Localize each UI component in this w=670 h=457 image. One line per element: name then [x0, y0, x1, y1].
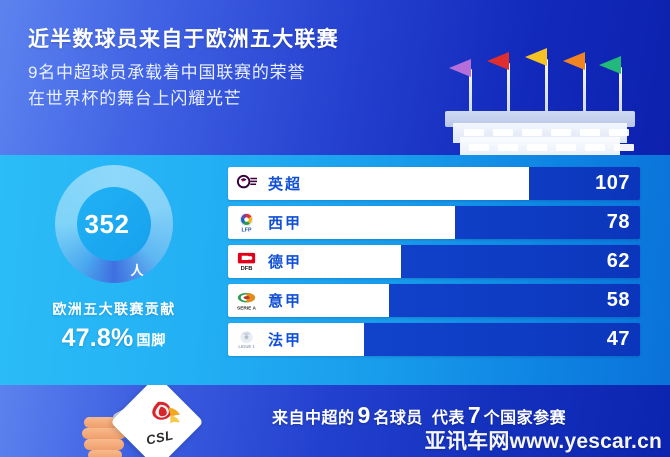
bar-row: LIGUE 1 法甲 47 [228, 323, 640, 356]
bundesliga-logo-icon: DFB [234, 249, 259, 274]
svg-text:LFP: LFP [242, 228, 252, 234]
ligue-1-logo-icon: LIGUE 1 [234, 327, 259, 352]
bar-value: 107 [595, 167, 630, 200]
footer-band: CSL 来自中超的 9 名球员 代表 7 个国家参赛 亚讯车网www.yesca… [0, 385, 670, 457]
svg-text:SERIE A: SERIE A [237, 306, 256, 312]
flag-orange-icon [563, 52, 585, 70]
bar-label: 德甲 [268, 251, 302, 272]
flag-green-icon [599, 56, 621, 74]
footer-prefix: 来自中超的 [272, 404, 355, 428]
donut-value: 352 [85, 209, 130, 240]
donut-percent-label: 国脚 [136, 330, 166, 353]
bar-label: 法甲 [268, 329, 302, 350]
bar-fill-premier-league: 英超 [228, 167, 529, 200]
donut-caption-text: 欧洲五大联赛贡献 [28, 299, 200, 319]
bar-row: DFB 德甲 62 [228, 245, 640, 278]
footer-players-count: 9 [358, 402, 371, 429]
donut-percent-row: 47.8% 国脚 [28, 324, 200, 353]
donut-caption-block: 欧洲五大联赛贡献 47.8% 国脚 [28, 299, 200, 353]
bar-fill-bundesliga: DFB 德甲 [228, 245, 401, 278]
donut-unit: 人 [130, 260, 143, 283]
bar-row: 英超 107 [228, 167, 640, 200]
header-subtitle-line2: 在世界杯的舞台上闪耀光芒 [28, 86, 339, 112]
header-text-block: 近半数球员来自于欧洲五大联赛 9名中超球员承载着中国联赛的荣誉 在世界杯的舞台上… [28, 27, 339, 112]
la-liga-logo-icon: LFP [234, 210, 259, 235]
header-subtitle-line1: 9名中超球员承载着中国联赛的荣誉 [28, 60, 339, 86]
bar-row: SERIE A 意甲 58 [228, 284, 640, 317]
league-bar-chart: 英超 107 LF [228, 167, 640, 362]
premier-league-logo-icon [234, 171, 259, 196]
stadium-tier-bottom [460, 137, 620, 155]
bar-value: 62 [607, 245, 630, 278]
stadium-illustration-icon [433, 52, 648, 155]
bar-label: 意甲 [268, 290, 302, 311]
flag-red-icon [487, 52, 509, 70]
donut-percent-value: 47.8% [62, 324, 134, 353]
donut-center-label: 352 人 [55, 165, 173, 283]
bar-label: 英超 [268, 173, 302, 194]
infographic-page: 近半数球员来自于欧洲五大联赛 9名中超球员承载着中国联赛的荣誉 在世界杯的舞台上… [0, 0, 670, 457]
csl-flame-icon: CSL [130, 393, 190, 451]
svg-text:LIGUE 1: LIGUE 1 [238, 344, 255, 349]
footer-middle: 名球员 [373, 404, 423, 428]
svg-text:DFB: DFB [241, 266, 253, 272]
page-title: 近半数球员来自于欧洲五大联赛 [28, 27, 339, 53]
csl-logo-illustration: CSL [82, 385, 222, 457]
bar-value: 78 [607, 206, 630, 239]
bar-value: 47 [607, 323, 630, 356]
bar-row: LFP 西甲 78 [228, 206, 640, 239]
flag-purple-icon [449, 59, 471, 77]
watermark-text: 亚讯车网www.yescar.cn [425, 425, 662, 455]
flag-yellow-icon [525, 48, 547, 66]
bar-fill-la-liga: LFP 西甲 [228, 206, 455, 239]
bar-value: 58 [607, 284, 630, 317]
serie-a-logo-icon: SERIE A [234, 288, 259, 313]
header-band: 近半数球员来自于欧洲五大联赛 9名中超球员承载着中国联赛的荣誉 在世界杯的舞台上… [0, 0, 670, 155]
main-content: 352 人 欧洲五大联赛贡献 47.8% 国脚 [0, 155, 670, 385]
donut-chart-block: 352 人 欧洲五大联赛贡献 47.8% 国脚 [28, 165, 200, 380]
bar-fill-ligue-1: LIGUE 1 法甲 [228, 323, 364, 356]
bar-label: 西甲 [268, 212, 302, 233]
donut-chart: 352 人 [55, 165, 173, 283]
bar-fill-serie-a: SERIE A 意甲 [228, 284, 389, 317]
